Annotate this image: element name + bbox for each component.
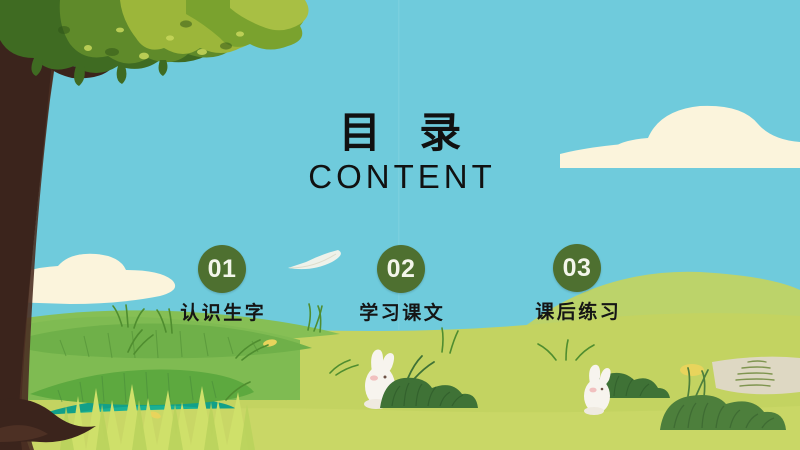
toc-item-1[interactable]: 01 认识生字 <box>142 245 302 323</box>
toc-badge-3[interactable]: 03 <box>553 244 601 292</box>
background-illustration <box>0 0 800 450</box>
toc-label-1: 认识生字 <box>142 304 302 323</box>
toc-badge-1[interactable]: 01 <box>198 245 246 293</box>
toc-number-1: 01 <box>208 257 237 282</box>
toc-number-3: 03 <box>563 256 592 281</box>
toc-label-3: 课后练习 <box>497 303 657 322</box>
toc-number-2: 02 <box>387 257 416 282</box>
slide-canvas: 目 录 CONTENT 01 认识生字 02 学习课文 03 课后练习 <box>0 0 800 450</box>
toc-badge-2[interactable]: 02 <box>377 245 425 293</box>
toc-item-2[interactable]: 02 学习课文 <box>321 245 481 323</box>
rock-right <box>712 357 800 395</box>
toc-label-2: 学习课文 <box>321 304 481 323</box>
toc-item-3[interactable]: 03 课后练习 <box>497 244 657 322</box>
